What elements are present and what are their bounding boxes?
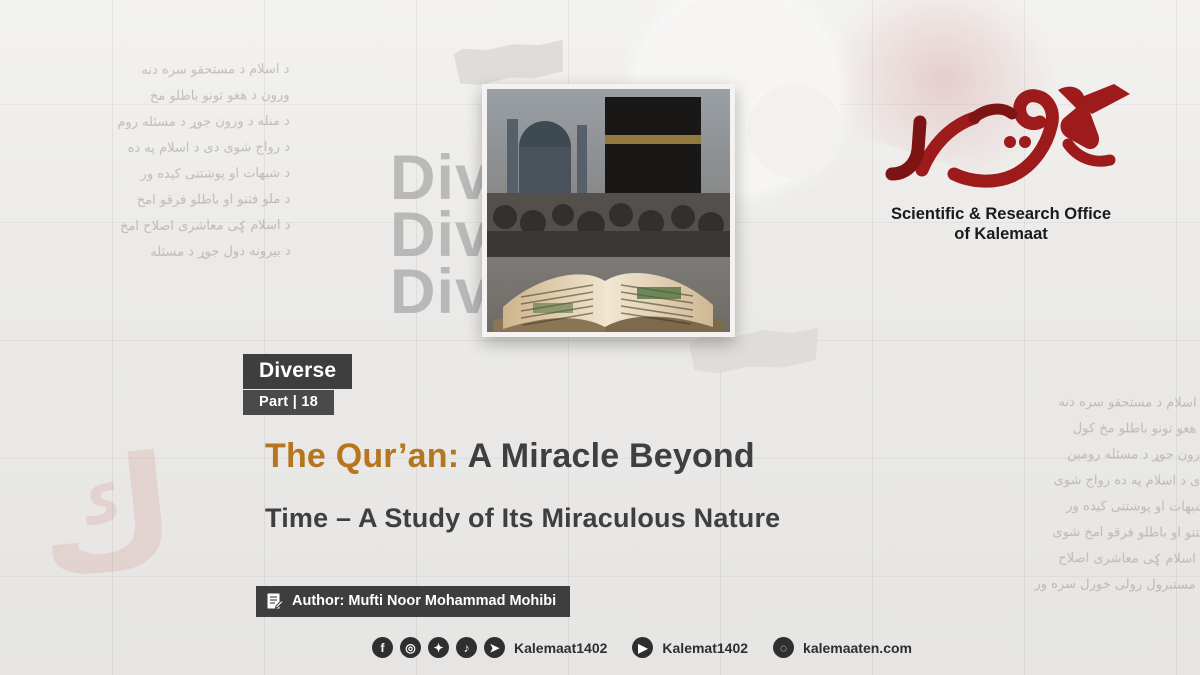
title-rest: A Miracle Beyond <box>459 437 755 475</box>
author-text: Author: Mufti Noor Mohammad Mohibi <box>292 593 556 609</box>
website-url: kalemaaten.com <box>803 640 912 656</box>
title-line-2: Time – A Study of Its Miraculous Nature <box>265 503 780 534</box>
youtube-icon[interactable]: ▶ <box>632 637 653 658</box>
title-line-1: The Qur’an: A Miracle Beyond <box>265 437 755 476</box>
author-badge: Author: Mufti Noor Mohammad Mohibi <box>256 586 570 617</box>
poster-canvas: د اسلام د مستحقو سره دنه ورون د هغو تونو… <box>0 0 1200 675</box>
category-chip: Diverse <box>243 354 352 389</box>
tape-strip-top <box>453 38 566 87</box>
brand-logo: Scientific & Research Office of Kalemaat <box>862 78 1140 244</box>
social-group-3: ◌ kalemaaten.com <box>773 637 912 658</box>
social-handle-2: Kalemat1402 <box>662 640 748 656</box>
social-handle-1: Kalemaat1402 <box>514 640 607 656</box>
social-group-1: f ◎ ✦ ♪ ➤ Kalemaat1402 <box>372 637 607 658</box>
facebook-icon[interactable]: f <box>372 637 393 658</box>
halo-circle-small <box>748 84 842 178</box>
kalemaat-arabic-logo-icon <box>862 78 1140 198</box>
quran-kaaba-photo <box>482 84 735 337</box>
part-chip: Part | 18 <box>243 390 334 415</box>
pen-writing-icon <box>266 592 284 610</box>
logo-subtitle-line1: Scientific & Research Office <box>862 204 1140 224</box>
twitter-icon[interactable]: ✦ <box>428 637 449 658</box>
instagram-icon[interactable]: ◎ <box>400 637 421 658</box>
globe-icon[interactable]: ◌ <box>773 637 794 658</box>
telegram-icon[interactable]: ➤ <box>484 637 505 658</box>
kalemaat-wordmark-icon <box>862 78 1140 198</box>
background-arabic-text-right: د اسلام د مستحقو سره دنه د هغو تونو باطل… <box>905 389 1200 599</box>
title-highlight: The Qur’an: <box>265 437 459 475</box>
photo-illustration <box>487 89 730 332</box>
background-arabic-text-left: د اسلام د مستحقو سره دنه ورون د هغو تونو… <box>0 57 291 267</box>
social-footer: f ◎ ✦ ♪ ➤ Kalemaat1402 ▶ Kalemat1402 ◌ k… <box>372 637 912 658</box>
red-watermark-left: ك <box>30 414 281 647</box>
logo-subtitle-line2: of Kalemaat <box>862 224 1140 244</box>
social-group-2: ▶ Kalemat1402 <box>632 637 748 658</box>
pen-writing-icon-svg <box>266 592 284 610</box>
logo-subtitle: Scientific & Research Office of Kalemaat <box>862 204 1140 244</box>
tiktok-icon[interactable]: ♪ <box>456 637 477 658</box>
